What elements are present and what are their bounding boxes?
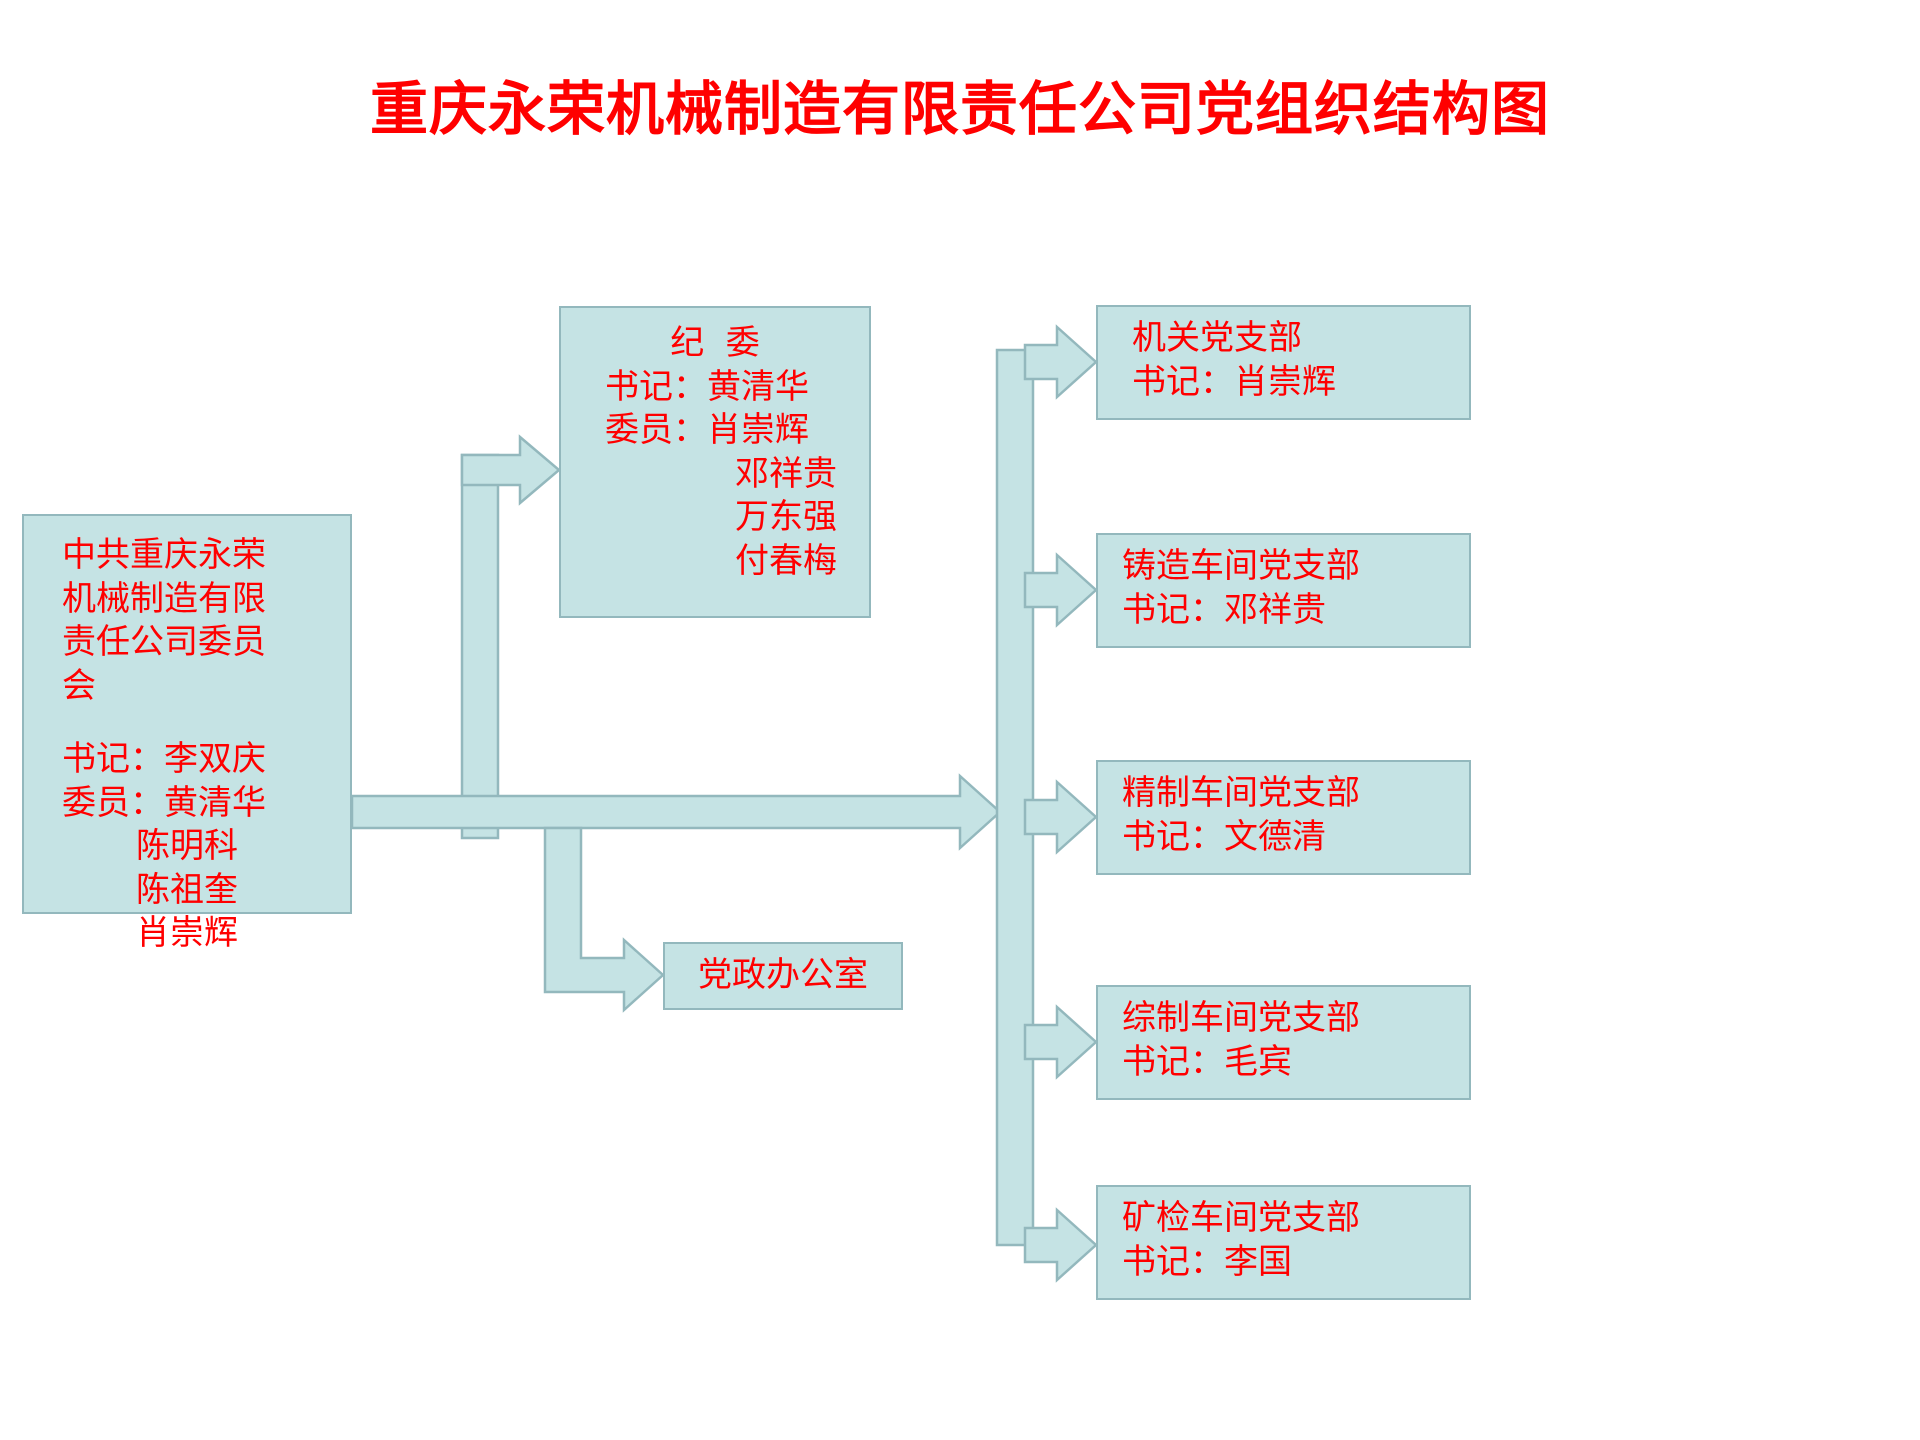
branch-box-zongzhi[interactable]: 综制车间党支部 书记：毛宾 [1096, 985, 1471, 1100]
branch-box-kuangjian[interactable]: 矿检车间党支部 书记：李国 [1096, 1185, 1471, 1300]
branch-1-name: 铸造车间党支部 [1098, 545, 1469, 589]
branch-4-name: 矿检车间党支部 [1098, 1197, 1469, 1241]
root-member-2: 陈明科 [24, 825, 350, 869]
jiwei-member-2: 邓祥贵 [561, 453, 869, 497]
jiwei-members-label: 委员：肖崇辉 [561, 409, 869, 453]
right-trunk [997, 350, 1033, 1245]
root-name-line-4: 会 [24, 665, 350, 709]
discipline-committee-box[interactable]: 纪 委 书记：黄清华 委员：肖崇辉 邓祥贵 万东强 付春梅 [559, 306, 871, 618]
root-party-committee-box[interactable]: 中共重庆永荣 机械制造有限 责任公司委员 会 书记：李双庆 委员：黄清华 陈明科… [22, 514, 352, 914]
branch-1-secretary: 书记：邓祥贵 [1098, 589, 1469, 633]
branch-3-name: 综制车间党支部 [1098, 997, 1469, 1041]
branch-box-jingzhi[interactable]: 精制车间党支部 书记：文德清 [1096, 760, 1471, 875]
jiwei-member-4: 付春梅 [561, 540, 869, 584]
branch-0-name: 机关党支部 [1098, 317, 1469, 361]
branch-3-secretary: 书记：毛宾 [1098, 1041, 1469, 1085]
branch-arrow-1 [1025, 555, 1096, 625]
jiwei-member-3: 万东强 [561, 496, 869, 540]
root-name-line-3: 责任公司委员 [24, 621, 350, 665]
branch-arrow-2 [1025, 782, 1096, 852]
branch-2-name: 精制车间党支部 [1098, 772, 1469, 816]
root-member-3: 陈祖奎 [24, 869, 350, 913]
root-name-line-1: 中共重庆永荣 [24, 534, 350, 578]
arrow-to-jiwei-shape [462, 447, 552, 832]
root-secretary: 书记：李双庆 [24, 738, 350, 782]
branch-box-jiguan[interactable]: 机关党支部 书记：肖崇辉 [1096, 305, 1471, 420]
office-branch-wire [545, 828, 663, 1010]
root-members-label: 委员：黄清华 [24, 782, 350, 826]
org-chart-page: 重庆永荣机械制造有限责任公司党组织结构图 中共重庆永荣 [0, 0, 1920, 1440]
branch-arrow-0 [1025, 327, 1096, 397]
branch-4-secretary: 书记：李国 [1098, 1241, 1469, 1285]
root-name-line-2: 机械制造有限 [24, 578, 350, 622]
office-label: 党政办公室 [698, 954, 868, 998]
jiwei-arrowhead [462, 437, 559, 503]
page-title: 重庆永荣机械制造有限责任公司党组织结构图 [0, 78, 1920, 142]
branch-box-zhuzao[interactable]: 铸造车间党支部 书记：邓祥贵 [1096, 533, 1471, 648]
root-spacer [24, 708, 350, 738]
arrow-to-jiwei [509, 410, 559, 468]
party-government-office-box[interactable]: 党政办公室 [663, 942, 903, 1010]
branch-arrow-3 [1025, 1007, 1096, 1077]
root-member-4: 肖崇辉 [24, 912, 350, 956]
jiwei-secretary: 书记：黄清华 [561, 366, 869, 410]
branch-arrow-4 [1025, 1210, 1096, 1280]
branch-0-secretary: 书记：肖崇辉 [1098, 361, 1469, 405]
jiwei-riser [462, 455, 498, 838]
branch-2-secretary: 书记：文德清 [1098, 816, 1469, 860]
jiwei-heading: 纪 委 [561, 322, 869, 366]
main-horizontal-arrow [352, 776, 1000, 848]
